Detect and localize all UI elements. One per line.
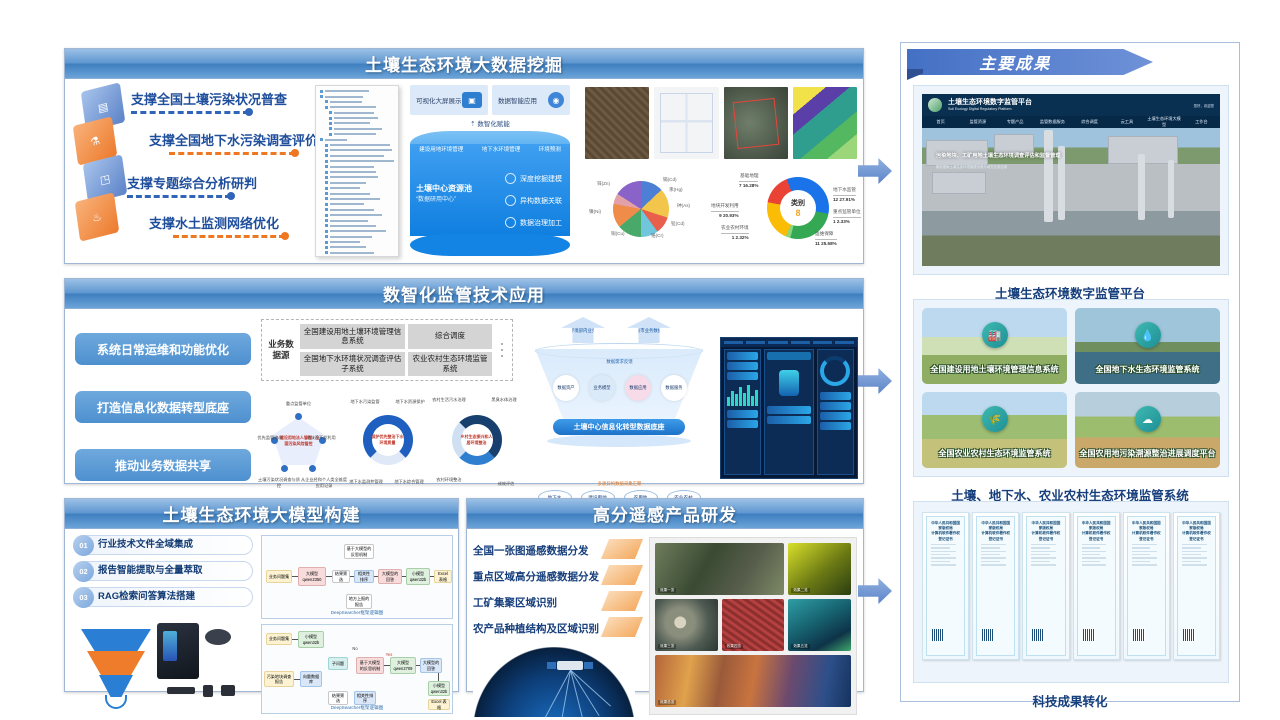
flow-node: 结果筛选 xyxy=(328,691,348,705)
panel3-body: 01 行业技术文件全域集成 02 报告智能提取与全量萃取 03 RAG检索问答算… xyxy=(65,529,458,691)
funnel-ring-label: 数据需求反馈 xyxy=(527,359,712,365)
flow-node: Excel 表格 xyxy=(434,570,452,583)
funnel-pill-asset: 数据资产 xyxy=(553,375,579,401)
qr-code-icon xyxy=(1032,629,1044,641)
dashboard-right-card xyxy=(817,349,854,475)
platform-header: 土壤生态环境数字监管平台 Soil Ecology Digital Regula… xyxy=(922,94,1220,116)
panel-remote-sensing: 高分遥感产品研发 全国一张图遥感数据分发 重点区域高分遥感数据分发 工矿集聚区域… xyxy=(466,498,864,692)
certificate: 中华人民共和国国家版权局 计算机软件著作权登记证书 xyxy=(1022,512,1069,660)
support-item-1: 支撑全国土壤污染状况普查 xyxy=(131,89,287,114)
pie-label-cd: 镉(Cd) xyxy=(663,177,677,183)
panel4-body: 全国一张图遥感数据分发 重点区域高分遥感数据分发 工矿集聚区域识别 农产品种植结… xyxy=(467,529,863,691)
nav-item-dispatch[interactable]: 综合调度 xyxy=(1071,119,1108,125)
support-item-1-line xyxy=(131,111,249,114)
groundwater-icon: 💧 xyxy=(1135,322,1161,348)
ring-label: 地下水资源保护 xyxy=(389,399,431,405)
system-tile-rural[interactable]: 🌾 全国农业农村生态环境监管系统 xyxy=(922,392,1067,468)
gallery-image: 效果一览 xyxy=(655,543,784,595)
feature-2: 异构数据关联 xyxy=(505,195,562,206)
ring-label: 农村环境整治 xyxy=(429,477,469,483)
funnel-graphic xyxy=(77,611,155,709)
chart-row: 镉(Cd) 汞(Hg) 砷(As) 铅(Cd) 铬(Cr) 铜(Cu) 镍(Ni… xyxy=(585,169,857,255)
poster-canvas: 土壤生态环境大数据挖掘 ▤ ⚗ ◳ ♨ 支撑全国土壤污染状况普查 支撑全国地下水… xyxy=(0,0,1280,720)
flow-node: 相关性排序 xyxy=(354,570,374,583)
table-cell: 全国地下水环境状况调查评估子系统 xyxy=(300,352,405,377)
map-thumbnail-row xyxy=(585,87,857,159)
dashboard-center-card xyxy=(764,349,814,475)
rs-feature-2-label: 重点区域高分遥感数据分发 xyxy=(473,569,599,584)
dashboard-grid xyxy=(724,349,854,475)
panel3-header: 土壤生态环境大模型构建 xyxy=(65,499,458,529)
step-number: 02 xyxy=(73,561,94,582)
funnel-base xyxy=(547,435,691,447)
panel1-header: 土壤生态环境大数据挖掘 xyxy=(65,49,863,79)
resource-pool-cylinder: 建设用地环境管理 地下水环境管理 环境预测 土壤中心资源池 “数据研用中心” 深… xyxy=(410,131,570,247)
ring-label: 地下水污染监管 xyxy=(344,399,386,405)
support-item-2-label: 支撑全国地下水污染调查评价 xyxy=(149,130,318,149)
flow-diagram-2: 业务问题集 小模型 qwen32b 子问题 污染地块调查报告 向量数据库 结果筛… xyxy=(261,624,453,714)
achievements-column: 主要成果 土壤生态环境数字监管平台 Soil Ecology Digital R… xyxy=(900,42,1240,702)
panel-smart-regulation: 数智化监管技术应用 系统日常运维和功能优化 打造信息化数据转型底座 推动业务数据… xyxy=(64,278,864,484)
nav-item-products[interactable]: 专题产品 xyxy=(997,119,1034,125)
panel1-support-list: ▤ ⚗ ◳ ♨ 支撑全国土壤污染状况普查 支撑全国地下水污染调查评价 xyxy=(71,85,301,255)
panel1-body: ▤ ⚗ ◳ ♨ 支撑全国土壤污染状况普查 支撑全国地下水污染调查评价 xyxy=(65,79,863,263)
ring-label: 农村生活污水治理 xyxy=(429,397,469,403)
ring-label: 重点监管单位 xyxy=(286,401,311,407)
remote-sensing-gallery: 效果一览 效果二览 效果三览 效果四览 效果五览 效果总览 xyxy=(649,537,857,715)
donut-label-rural: 农业农村环境 1 2.32% xyxy=(721,225,749,242)
qr-code-icon xyxy=(1133,629,1145,641)
dashboard-topbar xyxy=(721,338,857,347)
slash-decoration xyxy=(601,591,643,611)
table-ellipsis xyxy=(496,324,508,376)
ring-label: 地下水综合管理 xyxy=(387,479,431,485)
satellite-earth-illustration xyxy=(473,647,635,717)
support-item-1-label: 支撑全国土壤污染状况普查 xyxy=(131,89,287,108)
pie-label-hg: 汞(Hg) xyxy=(669,187,683,193)
qr-code-icon xyxy=(982,629,994,641)
platform-logo-icon xyxy=(928,98,942,112)
support-item-4-label: 支撑水土监测网络优化 xyxy=(149,213,285,232)
donut-center-label: 类别 xyxy=(791,198,805,208)
rs-feature-2: 重点区域高分遥感数据分发 xyxy=(473,563,643,589)
donut-label-geo: 基础地理 7 16.28% xyxy=(739,173,758,190)
ribbon-title: 主要成果 xyxy=(907,49,1123,75)
flow-branch-yes: Yes xyxy=(384,651,394,659)
certificate: 中华人民共和国国家版权局 计算机软件著作权登记证书 xyxy=(1173,512,1220,660)
network-icon xyxy=(505,195,516,206)
feature-3: 数据治理加工 xyxy=(505,217,562,228)
system-tile-label: 全国地下水生态环境监管系统 xyxy=(1075,365,1220,376)
map-thumb-satellite xyxy=(585,87,649,159)
support-item-3-label: 支撑专题综合分析研判 xyxy=(127,173,257,192)
cylinder-tag-row: 建设用地环境管理 地下水环境管理 环境预测 xyxy=(410,145,570,153)
panel2-header: 数智化监管技术应用 xyxy=(65,279,863,309)
dashboard-bars xyxy=(725,382,760,408)
top-apps-row: 可视化大屏展示 ▣ 数据智能应用 ◉ xyxy=(410,85,570,115)
flow-caption: DeepSearcher框架逻辑图 xyxy=(262,705,452,711)
pie-label-ni: 镍(Ni) xyxy=(589,209,601,215)
nav-item-tools[interactable]: 云工具 xyxy=(1108,119,1145,125)
flow-node: 向量数据库 xyxy=(300,671,322,687)
system-tile-construction-land[interactable]: 🏭 全国建设用地土壤环境管理信息系统 xyxy=(922,308,1067,384)
flow-node: 地方上报的报告 xyxy=(346,594,372,609)
data-source-cells: 全国建设用地土壤环境管理信息系统 综合调度 全国地下水环境状况调查评估子系统 农… xyxy=(300,324,492,376)
certificate: 中华人民共和国国家版权局 计算机软件著作权登记证书 xyxy=(972,512,1019,660)
funnel-arrow-left-label: 生态环境部内业务支撑 xyxy=(561,328,605,334)
flow-node: 相关性排序 xyxy=(354,691,376,705)
support-item-2: 支撑全国地下水污染调查评价 xyxy=(149,130,318,155)
system-tile-label: 全国农业农村生态环境监管系统 xyxy=(922,449,1067,460)
step-label: 行业技术文件全域集成 xyxy=(98,540,193,550)
flow-node: 大模型 qwen2709 xyxy=(390,657,416,674)
model-step-list: 01 行业技术文件全域集成 02 报告智能提取与全量萃取 03 RAG检索问答算… xyxy=(73,535,253,613)
dashboard-icon: ▣ xyxy=(462,92,482,108)
donut-label-ops: 运维保障 11 25.58% xyxy=(815,231,837,248)
ring-center-text: 乡村生态振兴和人居环境整治 xyxy=(460,434,494,446)
flow-node: 基于大模型的反思机制 xyxy=(344,544,374,559)
pie-label-zn: 锌(Zn) xyxy=(597,181,610,187)
flow-node: 子问题 xyxy=(328,657,348,670)
donut-chart-shape: 类别 8 xyxy=(767,177,829,239)
p2-button-ops[interactable]: 系统日常运维和功能优化 xyxy=(75,333,251,365)
funnel-pill-model: 业务模型 xyxy=(589,375,615,401)
rs-feature-1: 全国一张图遥感数据分发 xyxy=(473,537,643,563)
table-cell: 农业农村生态环境监管系统 xyxy=(408,352,492,377)
donut-label-landuse: 地块开发利用 9 20.93% xyxy=(711,203,739,220)
nav-item-workbench[interactable]: 工作台 xyxy=(1183,119,1220,125)
server-tower-icon xyxy=(157,623,199,679)
hardware-illustration xyxy=(71,607,255,715)
support-item-3-line xyxy=(127,195,231,198)
dashboard-screenshot xyxy=(720,337,858,479)
pie-label-pb: 铅(Cd) xyxy=(671,221,685,227)
donut-center-value: 8 xyxy=(791,208,805,218)
certificate: 中华人民共和国国家版权局 计算机软件著作权登记证书 xyxy=(922,512,969,660)
flow-node: 基于大模型的反思机制 xyxy=(356,657,384,674)
flow-node: 小模型 qwen32b xyxy=(406,568,430,585)
visual-screen-box: 可视化大屏展示 ▣ xyxy=(410,85,488,115)
model-step-2[interactable]: 02 报告智能提取与全量萃取 xyxy=(73,561,253,581)
rural-icon: 🌾 xyxy=(982,406,1008,432)
funnel-arrow-right-label: 全国省市业务数据赋能 xyxy=(627,328,671,334)
achievement-card-certificates: 中华人民共和国国家版权局 计算机软件著作权登记证书 中华人民共和国国家版权局 计… xyxy=(913,501,1229,683)
flow-node: 大模型的回答 xyxy=(378,569,402,584)
panel2-button-list: 系统日常运维和功能优化 打造信息化数据转型底座 推动业务数据共享 xyxy=(75,333,251,507)
flow-arrow-3 xyxy=(858,578,892,604)
funnel-band-label: 土壤中心信息化转型数据底座 xyxy=(553,419,685,435)
systems-grid: 🏭 全国建设用地土壤环境管理信息系统 💧 全国地下水生态环境监管系统 🌾 全国农… xyxy=(922,308,1220,468)
data-base-funnel-diagram: 生态环境部内业务支撑 全国省市业务数据赋能 数据需求反馈 数据资产 业务模型 数… xyxy=(527,315,712,507)
donut-label-keyunit: 重点监管单位 1 2.33% xyxy=(833,209,861,226)
p2-button-share[interactable]: 推动业务数据共享 xyxy=(75,449,251,481)
flow-caption: DeepSearcher框架逻辑图 xyxy=(262,610,452,616)
certificate: 中华人民共和国国家版权局 计算机软件著作权登记证书 xyxy=(1073,512,1120,660)
feature-1: 深度挖掘建模 xyxy=(505,173,562,184)
panel-big-data-mining: 土壤生态环境大数据挖掘 ▤ ⚗ ◳ ♨ 支撑全国土壤污染状况普查 支撑全国地下水… xyxy=(64,48,864,264)
donut-center: 类别 8 xyxy=(791,198,805,218)
platform-user-label[interactable]: 您好，欢迎您 xyxy=(1194,103,1214,108)
qr-code-icon xyxy=(1183,629,1195,641)
flow-branch-no: No xyxy=(350,645,360,653)
remote-sensing-feature-list: 全国一张图遥感数据分发 重点区域高分遥感数据分发 工矿集聚区域识别 农产品种植结… xyxy=(473,537,643,641)
platform-screenshot: 土壤生态环境数字监管平台 Soil Ecology Digital Regula… xyxy=(922,94,1220,266)
nav-item-services[interactable]: 监管数据服务 xyxy=(1034,119,1071,125)
pentagon-diagram: • 建设用地法人管理 • 全国污染风险管控 重点监管单位 地块再开发利用 从企业… xyxy=(255,389,342,499)
ring-label: 成效评估 xyxy=(488,481,524,487)
table-cell: 全国建设用地土壤环境管理信息系统 xyxy=(300,324,405,349)
ring-label: 优先监管地块 xyxy=(253,435,287,441)
rs-feature-3-label: 工矿集聚区域识别 xyxy=(473,595,557,610)
business-data-source-table: 业务数据源 全国建设用地土壤环境管理信息系统 综合调度 全国地下水环境状况调查评… xyxy=(261,319,513,381)
pie-label-cr: 铬(Cr) xyxy=(651,233,664,239)
funnel-pill-service: 数据服务 xyxy=(661,375,687,401)
pentagon-node xyxy=(295,413,302,420)
cylinder-bottom xyxy=(410,234,570,256)
cylinder-title: 土壤中心资源池 xyxy=(416,183,472,194)
rural-ring-diagram: 乡村生态振兴和人居环境整治 农村生活污水治理 黑臭水体治理 农村环境整治 成效评… xyxy=(433,389,520,499)
gallery-image: 效果三览 xyxy=(655,599,718,651)
dashboard-card xyxy=(724,349,761,475)
ring-label: 地块再开发利用 xyxy=(300,435,342,441)
pie-label-cu: 铜(Cu) xyxy=(611,231,625,237)
gallery-image: 效果五览 xyxy=(788,599,851,651)
data-pool-diagram: 可视化大屏展示 ▣ 数据智能应用 ◉ ⇡ 数智化赋能 建设 xyxy=(410,85,570,261)
cyl-tag-3: 环境预测 xyxy=(539,145,561,153)
flow-arrow-1 xyxy=(858,158,892,184)
donut-chart-categories: 类别 8 地下水监管 12 27.91% 重点监管单位 1 2.33% 运维保障 xyxy=(705,169,857,255)
step-label: RAG检索问答算法搭建 xyxy=(98,592,195,602)
flow-node: 大模型的回答 xyxy=(420,658,442,673)
caption-certificates: 科技成果转化 xyxy=(901,691,1239,710)
deepsearcher-flow-diagrams: 业务问题集 大模型 qwen2350 结果筛选 相关性排序 大模型的回答 小模型… xyxy=(261,535,453,717)
panel2-body: 系统日常运维和功能优化 打造信息化数据转型底座 推动业务数据共享 业务数据源 全… xyxy=(65,309,863,483)
psu-icon xyxy=(221,685,235,696)
system-tile-label: 全国建设用地土壤环境管理信息系统 xyxy=(922,365,1067,376)
model-step-3[interactable]: 03 RAG检索问答算法搭建 xyxy=(73,587,253,607)
step-number: 01 xyxy=(73,535,94,556)
funnel-pill-app: 数据应用 xyxy=(625,375,651,401)
document-tree-screenshot xyxy=(315,85,399,257)
panel-large-model: 土壤生态环境大模型构建 01 行业技术文件全域集成 02 报告智能提取与全量萃取… xyxy=(64,498,459,692)
gallery-grid: 效果一览 效果二览 效果三览 效果四览 效果五览 效果总览 xyxy=(655,543,851,709)
flow-node: 结果筛选 xyxy=(332,570,350,583)
certificate-row: 中华人民共和国国家版权局 计算机软件著作权登记证书 中华人民共和国国家版权局 计… xyxy=(922,512,1220,660)
rs-feature-3: 工矿集聚区域识别 xyxy=(473,589,643,615)
slash-decoration xyxy=(601,539,643,559)
atom-icon xyxy=(505,173,516,184)
cube-icon-4: ♨ xyxy=(75,192,120,241)
flow-arrow-2 xyxy=(858,368,892,394)
ai-brain-icon: ◉ xyxy=(548,92,564,108)
funnel-note: 多源异构数据采集汇聚 xyxy=(527,481,712,487)
flow-node: 业务问题集 xyxy=(266,570,292,583)
achievement-card-platform: 土壤生态环境数字监管平台 Soil Ecology Digital Regula… xyxy=(913,85,1229,275)
achievement-card-systems: 🏭 全国建设用地土壤环境管理信息系统 💧 全国地下水生态环境监管系统 🌾 全国农… xyxy=(913,299,1229,477)
flow-node: 业务问题集 xyxy=(266,633,292,645)
platform-slogan: 污染地块、工矿用地土壤生态环境调查评估和监督管理 xyxy=(936,152,1061,159)
platform-nav: 首页 监管资源 专题产品 监管数据服务 综合调度 云工具 土壤生态环境大模型 工… xyxy=(922,116,1220,128)
platform-subtext: 服务国家土壤生态环境管理决策与地方业务应用 xyxy=(936,164,1007,169)
platform-hero-photo xyxy=(922,128,1220,266)
qr-code-icon xyxy=(932,629,944,641)
gpu-card-icon xyxy=(167,687,195,694)
ring-label: 地下水监测井管理 xyxy=(344,479,388,485)
map-thumb-boundary xyxy=(724,87,788,159)
ring-label: 土壤污染状况调查与质控 xyxy=(257,477,301,489)
support-item-2-line xyxy=(169,152,295,155)
map-thumb-parcel xyxy=(654,87,718,159)
nav-item-resources[interactable]: 监管资源 xyxy=(959,119,996,125)
rs-feature-4-label: 农产品种植结构及区域识别 xyxy=(473,621,599,636)
support-item-4: 支撑水土监测网络优化 xyxy=(149,213,285,238)
cooler-icon xyxy=(205,629,231,645)
pie-chart-shape xyxy=(613,181,669,237)
rs-feature-1-label: 全国一张图遥感数据分发 xyxy=(473,543,589,558)
cyl-tag-2: 地下水环境管理 xyxy=(482,145,521,153)
flow-diagram-1: 业务问题集 大模型 qwen2350 结果筛选 相关性排序 大模型的回答 小模型… xyxy=(261,535,453,619)
cylinder-feature-list: 深度挖掘建模 异构数据关联 数据治理加工 xyxy=(505,173,562,228)
nav-item-home[interactable]: 首页 xyxy=(922,119,959,125)
panel2-title: 数智化监管技术应用 xyxy=(383,281,545,306)
cylinder-title-block: 土壤中心资源池 “数据研用中心” xyxy=(416,183,472,203)
pie-chart-pollutants: 镉(Cd) 汞(Hg) 砷(As) 铅(Cd) 铬(Cr) 铜(Cu) 镍(Ni… xyxy=(585,169,705,255)
panel3-title: 土壤生态环境大模型构建 xyxy=(163,501,361,526)
flow-node: 小模型 qwen32b xyxy=(428,681,450,696)
donut-label-groundwater: 地下水监管 12 27.91% xyxy=(833,187,856,204)
step-label: 报告智能提取与全量萃取 xyxy=(98,566,203,576)
slash-decoration xyxy=(601,617,643,637)
platform-name: 土壤生态环境数字监管平台 Soil Ecology Digital Regula… xyxy=(948,99,1032,111)
nav-item-model[interactable]: 土壤生态环境大模型 xyxy=(1146,116,1183,128)
certificate: 中华人民共和国国家版权局 计算机软件著作权登记证书 xyxy=(1123,512,1170,660)
gallery-image: 效果二览 xyxy=(788,543,851,595)
funnel-arrow-left: 生态环境部内业务支撑 xyxy=(561,317,605,343)
smart-app-box: 数据智能应用 ◉ xyxy=(492,85,570,115)
flow-node: 大模型 qwen2350 xyxy=(298,567,326,586)
map-thumb-classified xyxy=(793,87,857,159)
system-tile-pollution-source[interactable]: ☁ 全国农用地污染溯源整治进展调度平台 xyxy=(1075,392,1220,468)
gallery-image: 效果四览 xyxy=(722,599,785,651)
ring-label: 黑臭水体治理 xyxy=(484,397,524,403)
ring-label: 从企业经和个人类全维度应用记录 xyxy=(300,477,348,489)
flow-node: 小模型 qwen32b xyxy=(298,631,324,648)
pentagon-node xyxy=(309,465,316,472)
pie-label-as: 砷(As) xyxy=(677,203,690,209)
groundwater-ring-diagram: 保护优先整治下水环境质量 地下水污染监管 地下水资源保护 地下水监测井管理 地下… xyxy=(344,389,431,499)
support-item-3: 支撑专题综合分析研判 xyxy=(127,173,257,198)
panel4-title: 高分遥感产品研发 xyxy=(593,501,737,526)
panel4-header: 高分遥感产品研发 xyxy=(467,499,863,529)
gallery-image: 效果总览 xyxy=(655,655,851,707)
pentagon-node xyxy=(281,465,288,472)
funnel-arrow-right: 全国省市业务数据赋能 xyxy=(627,317,671,343)
table-cell: 综合调度 xyxy=(408,324,492,349)
smart-app-label: 数据智能应用 xyxy=(498,95,537,105)
data-source-label: 业务数据源 xyxy=(266,324,296,376)
flow-node: 污染地块调查报告 xyxy=(264,671,294,687)
dashboard-cylinder-3d xyxy=(779,370,799,396)
enable-arrow-label: 数智化赋能 xyxy=(477,121,510,128)
pollution-icon: ☁ xyxy=(1135,406,1161,432)
system-tile-groundwater[interactable]: 💧 全国地下水生态环境监管系统 xyxy=(1075,308,1220,384)
visual-screen-label: 可视化大屏展示 xyxy=(416,95,462,105)
cpu-icon xyxy=(203,685,213,697)
factory-icon: 🏭 xyxy=(982,322,1008,348)
qr-code-icon xyxy=(1083,629,1095,641)
hexagon-icon xyxy=(505,217,516,228)
rs-feature-4: 农产品种植结构及区域识别 xyxy=(473,615,643,641)
system-tile-label: 全国农用地污染溯源整治进展调度平台 xyxy=(1075,449,1220,460)
enable-arrow: ⇡ 数智化赋能 xyxy=(410,118,570,128)
step-number: 03 xyxy=(73,587,94,608)
slash-decoration xyxy=(601,565,643,585)
ring-diagram-row: • 建设用地法人管理 • 全国污染风险管控 重点监管单位 地块再开发利用 从企业… xyxy=(255,389,520,499)
ring-center-text: 保护优先整治下水环境质量 xyxy=(371,434,405,446)
panel1-title: 土壤生态环境大数据挖掘 xyxy=(365,51,563,76)
cyl-tag-1: 建设用地环境管理 xyxy=(419,145,463,153)
support-item-4-line xyxy=(173,235,285,238)
cylinder-subtitle: “数据研用中心” xyxy=(416,194,472,203)
cube-stack-decoration: ▤ ⚗ ◳ ♨ xyxy=(75,85,127,253)
p2-button-base[interactable]: 打造信息化数据转型底座 xyxy=(75,391,251,423)
model-step-1[interactable]: 01 行业技术文件全域集成 xyxy=(73,535,253,555)
dashboard-gauge xyxy=(820,356,850,386)
achievements-ribbon: 主要成果 xyxy=(907,49,1153,81)
